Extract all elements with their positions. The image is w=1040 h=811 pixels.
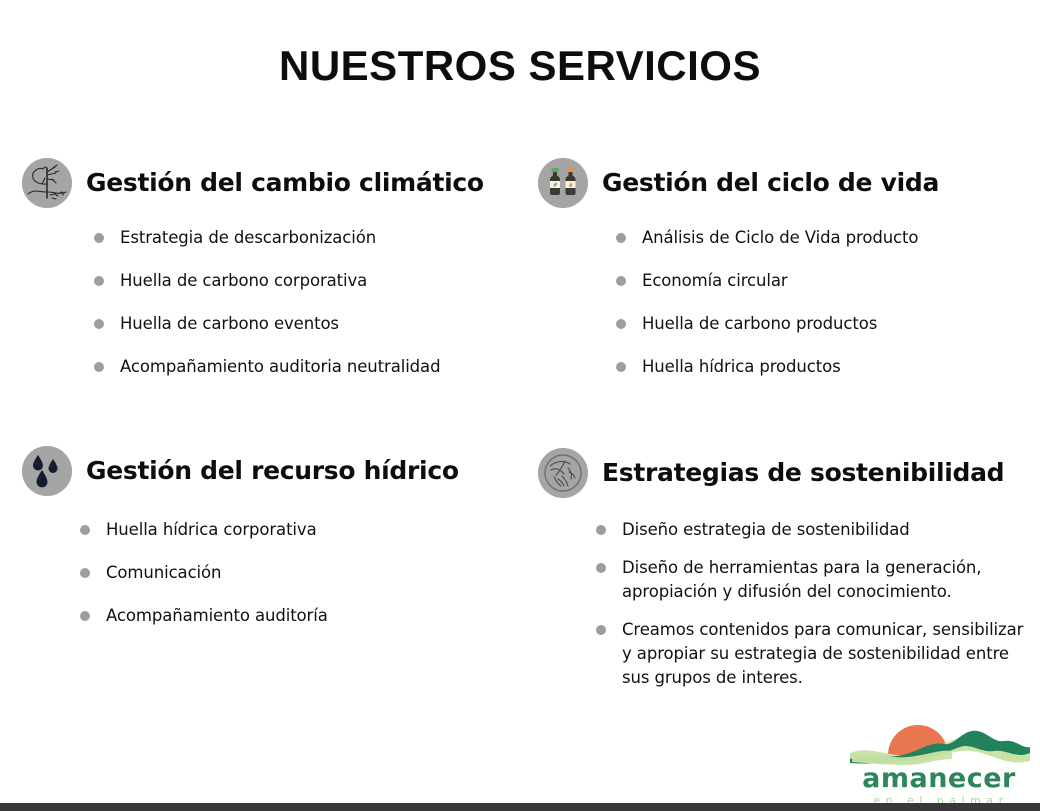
service-item-list: Análisis de Ciclo de Vida producto Econo…	[616, 226, 1028, 379]
list-item: Diseño estrategia de sostenibilidad	[596, 518, 1038, 542]
logo-wordmark: amanecer	[840, 765, 1038, 792]
service-item-list: Estrategia de descarbonización Huella de…	[94, 226, 522, 379]
service-title: Gestión del cambio climático	[86, 169, 484, 197]
service-header: Gestión del cambio climático	[22, 158, 522, 208]
page-title: NUESTROS SERVICIOS	[0, 44, 1040, 88]
list-item: Huella hídrica corporativa	[80, 518, 502, 542]
globe-person-icon	[538, 448, 588, 498]
service-item-list: Diseño estrategia de sostenibilidad Dise…	[596, 518, 1038, 690]
list-item: Economía circular	[616, 269, 1028, 293]
list-item: Estrategia de descarbonización	[94, 226, 522, 250]
service-title: Estrategias de sostenibilidad	[602, 459, 1004, 487]
service-block-lifecycle: Gestión del ciclo de vida Análisis de Ci…	[538, 158, 1028, 398]
service-header: Estrategias de sostenibilidad	[538, 448, 1038, 498]
service-title: Gestión del recurso hídrico	[86, 457, 459, 485]
service-block-climate: Gestión del cambio climático Estrategia …	[22, 158, 522, 398]
list-item: Análisis de Ciclo de Vida producto	[616, 226, 1028, 250]
list-item: Huella de carbono eventos	[94, 312, 522, 336]
service-item-list: Huella hídrica corporativa Comunicación …	[80, 518, 502, 628]
service-title: Gestión del ciclo de vida	[602, 169, 939, 197]
bottom-bar	[0, 803, 1040, 811]
list-item: Huella hídrica productos	[616, 355, 1028, 379]
list-item: Diseño de herramientas para la generació…	[596, 556, 1038, 604]
tree-drought-icon	[22, 158, 72, 208]
list-item: Comunicación	[80, 561, 502, 585]
list-item: Huella de carbono corporativa	[94, 269, 522, 293]
list-item: Huella de carbono productos	[616, 312, 1028, 336]
list-item: Acompañamiento auditoria neutralidad	[94, 355, 522, 379]
service-header: Gestión del ciclo de vida	[538, 158, 1028, 208]
slide-canvas: NUESTROS SERVICIOS	[0, 0, 1040, 811]
list-item: Acompañamiento auditoría	[80, 604, 502, 628]
water-drops-icon	[22, 446, 72, 496]
service-block-strategy: Estrategias de sostenibilidad Diseño est…	[538, 448, 1038, 704]
sunrise-hills-logo-mark	[840, 719, 1038, 767]
service-header: Gestión del recurso hídrico	[22, 446, 502, 496]
company-logo: amanecer en el palmar	[840, 719, 1038, 803]
service-block-water: Gestión del recurso hídrico Huella hídri…	[22, 446, 502, 647]
list-item: Creamos contenidos para comunicar, sensi…	[596, 618, 1038, 690]
bottles-icon	[538, 158, 588, 208]
